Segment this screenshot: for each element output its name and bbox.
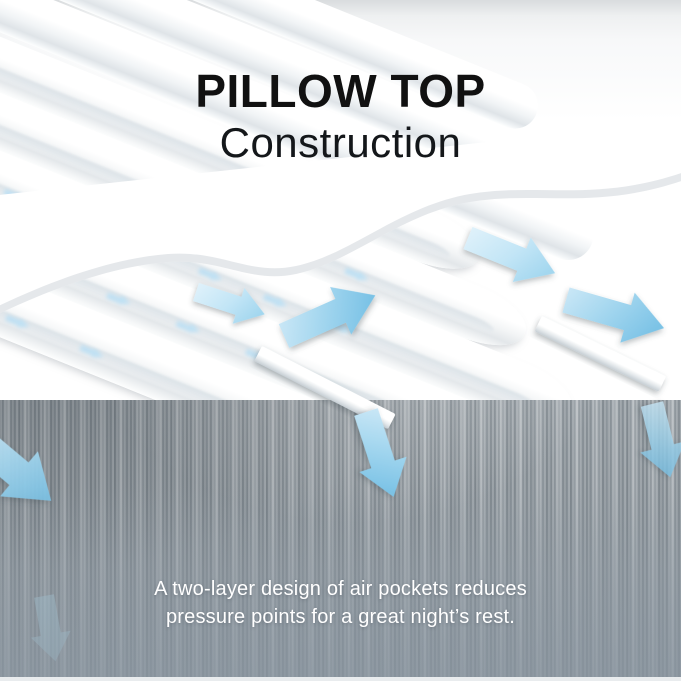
airflow-arrow-foam-left [190, 274, 270, 332]
infographic-canvas: PILLOW TOP Construction A two-layer desi… [0, 0, 681, 681]
airflow-arrow-core-far-right [630, 398, 681, 482]
bottom-edge-strip [0, 677, 681, 681]
caption-line-2: pressure points for a great night’s rest… [0, 604, 681, 632]
page-title: PILLOW TOP [0, 68, 681, 114]
page-subtitle: Construction [0, 122, 681, 164]
caption-line-1: A two-layer design of air pockets reduce… [0, 576, 681, 604]
airflow-arrow-foam-right [459, 216, 564, 296]
caption-block: A two-layer design of air pockets reduce… [0, 576, 681, 631]
airflow-arrow-beam-upper-left [273, 272, 386, 360]
